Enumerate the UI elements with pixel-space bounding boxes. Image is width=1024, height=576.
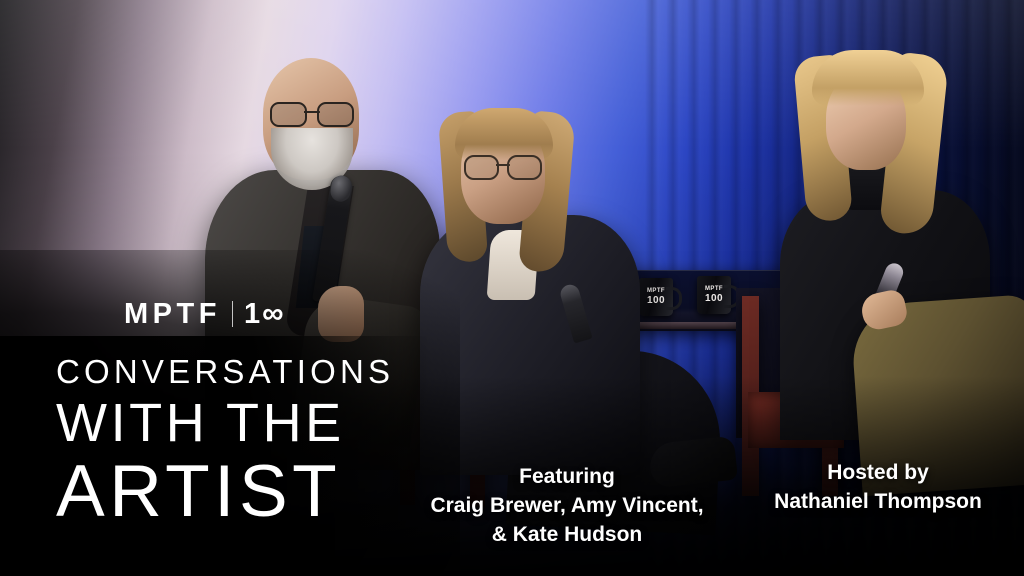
mug-logo-bottom: 100 (639, 295, 673, 306)
mug-logo-top: MPTF (647, 288, 665, 294)
hosted-by-label: Hosted by (744, 458, 1012, 487)
panelist-right-hair (812, 50, 924, 106)
anniversary-numeral: 1 (244, 300, 261, 329)
mug-logo-bottom: 100 (697, 293, 731, 304)
mug-logo-top: MPTF (705, 286, 723, 292)
title-line-3: ARTIST (56, 454, 394, 530)
anniversary-mark: 1∞ (244, 299, 284, 329)
logo-divider (232, 301, 233, 327)
eyeglasses-icon (463, 155, 543, 177)
featuring-credit: Featuring Craig Brewer, Amy Vincent, & K… (409, 462, 725, 549)
infinity-icon: ∞ (262, 299, 283, 329)
eyeglasses-icon (268, 102, 356, 124)
branded-mug: MPTF 100 (639, 278, 673, 316)
host-credit: Hosted by Nathaniel Thompson (744, 458, 1012, 516)
panelist-middle-hair (455, 108, 553, 160)
mptf-logo: MPTF 1∞ (124, 299, 283, 329)
panelist-left-hand (318, 286, 364, 342)
featuring-names-line-2: & Kate Hudson (409, 520, 725, 549)
branded-mug: MPTF 100 (697, 276, 731, 314)
series-title: CONVERSATIONS WITH THE ARTIST (56, 352, 394, 530)
featuring-label: Featuring (409, 462, 725, 491)
mug-logo: MPTF 100 (639, 287, 673, 306)
mptf-wordmark: MPTF (124, 300, 221, 329)
title-line-1: CONVERSATIONS (56, 352, 394, 392)
featuring-names-line-1: Craig Brewer, Amy Vincent, (409, 491, 725, 520)
video-thumbnail: MPTF 100 MPTF 100 (0, 0, 1024, 576)
mug-logo: MPTF 100 (697, 285, 731, 304)
host-name: Nathaniel Thompson (744, 487, 1012, 516)
title-line-2: WITH THE (56, 394, 394, 452)
